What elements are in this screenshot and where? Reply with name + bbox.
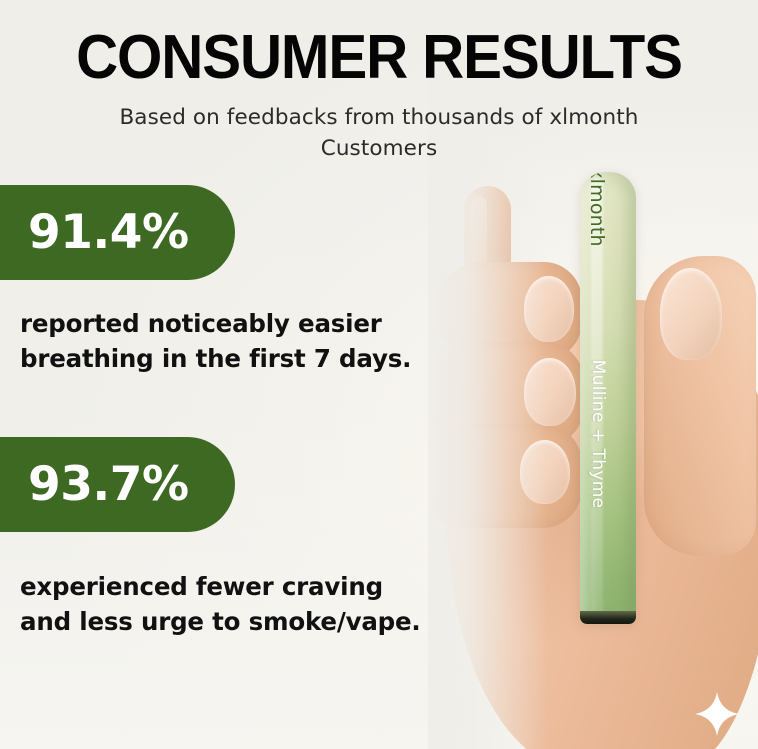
stat-badge-2: 93.7% <box>0 437 235 532</box>
consumer-results-poster: xlmonth Mulline + Thyme CONSUMER RESULTS… <box>0 0 758 749</box>
stat-description-line: reported noticeably easier <box>20 307 470 342</box>
stat-description-1: reported noticeably easier breathing in … <box>0 280 470 377</box>
fingernail <box>524 358 576 426</box>
stat-badge-1: 91.4% <box>0 185 235 280</box>
stat-block-1: 91.4% reported noticeably easier breathi… <box>0 185 470 377</box>
page-title: CONSUMER RESULTS <box>23 0 736 89</box>
subtitle-line: Based on feedbacks from thousands of xlm… <box>0 103 758 134</box>
fingernail <box>524 276 574 342</box>
stat-block-2: 93.7% experienced fewer craving and less… <box>0 437 470 640</box>
device-brand-text: xlmonth <box>586 172 608 247</box>
device-tip <box>580 611 636 624</box>
stat-description-line: experienced fewer craving <box>20 570 470 605</box>
stat-value-1: 91.4% <box>28 209 189 256</box>
subtitle-line: Customers <box>0 134 758 165</box>
device-flavor-text: Mulline + Thyme <box>588 360 608 509</box>
fingernail <box>520 440 570 504</box>
thumbnail <box>660 268 722 360</box>
stat-description-2: experienced fewer craving and less urge … <box>0 532 470 640</box>
stat-value-2: 93.7% <box>28 461 189 508</box>
stat-description-line: and less urge to smoke/vape. <box>20 605 470 640</box>
stat-description-line: breathing in the first 7 days. <box>20 342 470 377</box>
page-subtitle: Based on feedbacks from thousands of xlm… <box>0 89 758 164</box>
vape-device: xlmonth Mulline + Thyme <box>580 172 636 624</box>
sparkle-icon <box>694 691 740 737</box>
header: CONSUMER RESULTS Based on feedbacks from… <box>0 0 758 164</box>
device-brand-logo: xlmonth <box>586 172 608 247</box>
